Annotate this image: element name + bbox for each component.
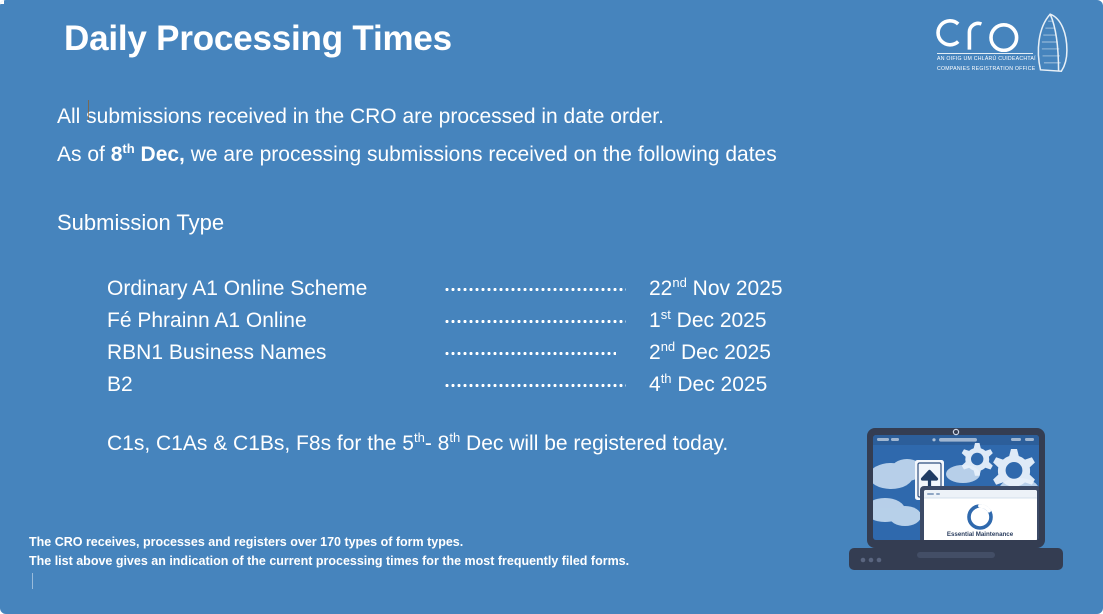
- processing-date: 4th Dec 2025: [649, 373, 897, 397]
- date-day: 22: [649, 277, 672, 300]
- slide-canvas: Daily Processing Times: [0, 0, 1103, 614]
- date-day-suffix: st: [661, 307, 671, 322]
- submission-type-name: B2: [107, 373, 444, 397]
- as-of-month: Dec,: [135, 143, 185, 166]
- as-of-day: 8: [111, 143, 123, 166]
- date-day-suffix: nd: [661, 339, 675, 354]
- svg-text:Essential Maintenance: Essential Maintenance: [947, 531, 1014, 538]
- date-rest: Dec 2025: [675, 341, 771, 364]
- intro-line-2: As of 8th Dec, we are processing submiss…: [57, 136, 777, 174]
- same-day-registration-note: C1s, C1As & C1Bs, F8s for the 5th- 8th D…: [107, 432, 728, 456]
- processing-times-table: Ordinary A1 Online Scheme 22nd Nov 2025 …: [107, 274, 897, 402]
- table-row: Ordinary A1 Online Scheme 22nd Nov 2025: [107, 274, 897, 306]
- cro-subtitle-english: COMPANIES REGISTRATION OFFICE: [937, 65, 1033, 75]
- note-rest: Dec will be registered today.: [460, 432, 728, 455]
- processing-date: 1st Dec 2025: [649, 309, 897, 333]
- page-title: Daily Processing Times: [64, 20, 452, 59]
- submission-type-name: RBN1 Business Names: [107, 341, 444, 365]
- submission-type-name: Ordinary A1 Online Scheme: [107, 277, 444, 301]
- date-rest: Nov 2025: [687, 277, 783, 300]
- footer-note: The CRO receives, processes and register…: [29, 533, 629, 571]
- cro-logo-subtitle: AN OIFIG UM CHLÁRÚ CUIDEACHTAÍ COMPANIES…: [937, 53, 1033, 74]
- note-from-suffix: th: [414, 430, 425, 445]
- footer-caret: [32, 573, 33, 589]
- table-row: RBN1 Business Names 2nd Dec 2025: [107, 338, 897, 370]
- note-dash: -: [425, 432, 438, 455]
- dot-leader: [444, 274, 649, 295]
- date-rest: Dec 2025: [672, 373, 768, 396]
- date-day: 2: [649, 341, 661, 364]
- date-day-suffix: th: [661, 371, 672, 386]
- intro-line-1: All submissions received in the CRO are …: [57, 98, 777, 136]
- dot-leader: [444, 338, 649, 359]
- footer-line-1: The CRO receives, processes and register…: [29, 533, 629, 552]
- note-from-day: 5: [402, 432, 414, 455]
- as-of-date: 8th Dec,: [111, 143, 185, 166]
- date-day-suffix: nd: [672, 275, 686, 290]
- as-of-day-suffix: th: [122, 141, 134, 156]
- date-day: 4: [649, 373, 661, 396]
- cro-subtitle-irish: AN OIFIG UM CHLÁRÚ CUIDEACHTAÍ: [937, 55, 1033, 65]
- intro-line-2-prefix: As of: [57, 143, 111, 166]
- note-to-suffix: th: [449, 430, 460, 445]
- note-prefix: C1s, C1As & C1Bs, F8s for the: [107, 432, 402, 455]
- cro-logo: AN OIFIG UM CHLÁRÚ CUIDEACHTAÍ COMPANIES…: [935, 10, 1075, 78]
- date-day: 1: [649, 309, 661, 332]
- note-to-day: 8: [438, 432, 450, 455]
- dot-leader: [444, 370, 649, 391]
- submission-type-heading: Submission Type: [57, 210, 224, 236]
- table-row: Fé Phrainn A1 Online 1st Dec 2025: [107, 306, 897, 338]
- submission-type-name: Fé Phrainn A1 Online: [107, 309, 444, 333]
- intro-line-2-rest: we are processing submissions received o…: [185, 143, 777, 166]
- dot-leader: [444, 306, 649, 327]
- processing-date: 22nd Nov 2025: [649, 277, 897, 301]
- date-rest: Dec 2025: [671, 309, 767, 332]
- footer-line-2: The list above gives an indication of th…: [29, 552, 629, 571]
- text-caret: [88, 100, 89, 120]
- cro-wordmark-icon: [935, 12, 1027, 52]
- intro-text: All submissions received in the CRO are …: [57, 98, 777, 174]
- table-row: B2 4th Dec 2025: [107, 370, 897, 402]
- harp-icon: [1031, 10, 1075, 74]
- processing-date: 2nd Dec 2025: [649, 341, 897, 365]
- laptop-maintenance-illustration: Essential Maintenance: [843, 424, 1069, 588]
